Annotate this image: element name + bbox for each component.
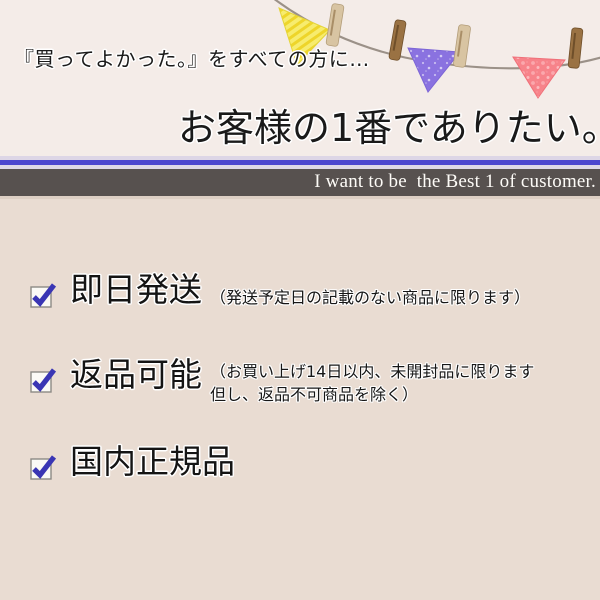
feature-title: 返品可能 — [70, 356, 202, 394]
feature-list: 即日発送 （発送予定日の記載のない商品に限ります） 返品可能 （お買い上げ14日… — [0, 199, 600, 600]
checkbox-checked-icon — [30, 455, 56, 481]
clothespin-icon — [389, 19, 407, 60]
feature-title: 即日発送 — [70, 271, 202, 309]
hero-headline: お客様の1番でありたい。 — [178, 97, 600, 152]
clothespin-icon — [326, 3, 344, 46]
feature-item-domestic-genuine: 国内正規品 — [0, 443, 600, 481]
hero-section: 『買ってよかった。』をすべての方に… お客様の1番でありたい。 — [0, 0, 600, 160]
promo-banner: 『買ってよかった。』をすべての方に… お客様の1番でありたい。 I want t… — [0, 0, 600, 600]
clothespin-icon — [453, 24, 471, 67]
feature-item-returns-accepted: 返品可能 （お買い上げ14日以内、未開封品に限ります 但し、返品不可商品を除く） — [0, 356, 600, 406]
clothespin-icon — [568, 28, 583, 69]
feature-item-same-day-shipping: 即日発送 （発送予定日の記載のない商品に限ります） — [0, 271, 600, 309]
feature-note: （発送予定日の記載のない商品に限ります） — [210, 286, 530, 309]
feature-title: 国内正規品 — [70, 443, 235, 481]
feature-note: （お買い上げ14日以内、未開封品に限ります 但し、返品不可商品を除く） — [210, 360, 534, 406]
flag-pink — [513, 57, 565, 98]
tagline-band: I want to be the Best 1 of customer. — [0, 169, 600, 196]
tagline-text: I want to be the Best 1 of customer. — [314, 171, 596, 193]
checkbox-checked-icon — [30, 283, 56, 309]
checkbox-checked-icon — [30, 368, 56, 394]
hero-lead-text: 『買ってよかった。』をすべての方に… — [14, 43, 370, 72]
flag-purple — [408, 48, 460, 92]
